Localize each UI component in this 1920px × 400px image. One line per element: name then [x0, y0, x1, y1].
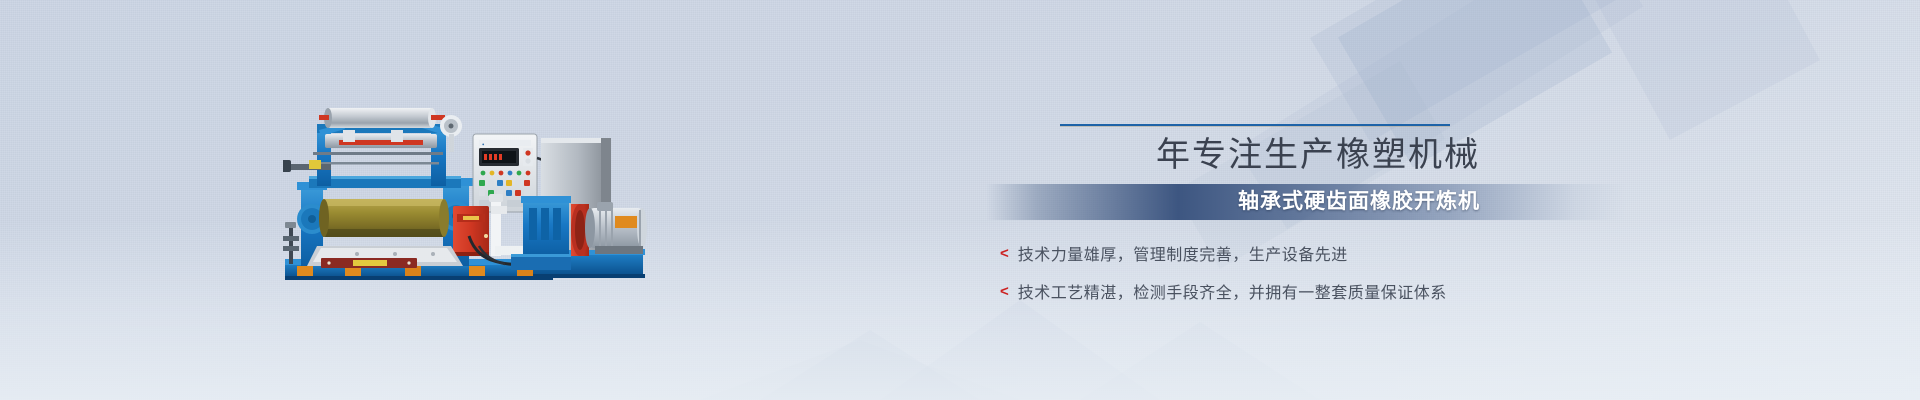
- feature-text: 技术工艺精湛，检测手段齐全，并拥有一整套质量保证体系: [1018, 279, 1447, 303]
- feature-list: < 技术力量雄厚，管理制度完善，生产设备先进 < 技术工艺精湛，检测手段齐全，并…: [1000, 234, 1600, 310]
- list-item: < 技术力量雄厚，管理制度完善，生产设备先进: [1000, 234, 1600, 272]
- chevron-left-icon: <: [1000, 284, 1009, 299]
- bg-triangle-1: [760, 330, 980, 400]
- page-title: 年专注生产橡塑机械: [1000, 134, 1480, 178]
- bg-shape-4: [1590, 0, 1820, 140]
- product-name-label: 轴承式硬齿面橡胶开炼机: [1000, 183, 1480, 221]
- hero-banner: ●: [0, 0, 1920, 400]
- bg-shape-1: [1310, 0, 1630, 142]
- product-image-rubber-mixing-mill: ●: [283, 96, 678, 296]
- list-item: < 技术工艺精湛，检测手段齐全，并拥有一整套质量保证体系: [1000, 272, 1600, 310]
- headline-divider: [1060, 124, 1450, 126]
- bg-triangle-4: [1080, 322, 1320, 400]
- feature-text: 技术力量雄厚，管理制度完善，生产设备先进: [1018, 241, 1348, 265]
- chevron-left-icon: <: [1000, 246, 1009, 261]
- bg-triangle-3: [700, 340, 1020, 400]
- bg-triangle-2: [880, 300, 1160, 400]
